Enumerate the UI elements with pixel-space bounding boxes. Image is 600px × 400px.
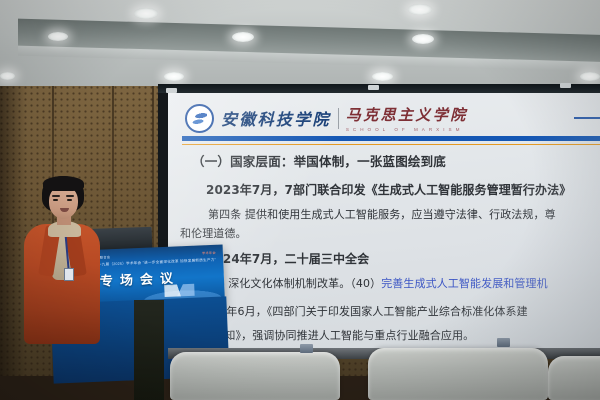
- speaker-hair-fringe: [43, 176, 84, 191]
- projected-slide: 安徽科技学院 马克思主义学院 SCHOOL OF MARXISM （一）国家层面…: [168, 93, 600, 351]
- school-name-en: SCHOOL OF MARXISM: [346, 127, 468, 132]
- downlight: [134, 8, 158, 19]
- downlight: [164, 72, 184, 81]
- audience-chair: [170, 352, 340, 400]
- downlight: [232, 32, 254, 42]
- slide-item3-a: 2024年6月，《四部门关于印发国家人工智能产业综合标准化体系建: [198, 303, 600, 319]
- slide-item2-line: 十、深化文化体制机制改革。（40）完善生成式人工智能发展和管理机: [206, 275, 600, 291]
- audience-chair: [548, 356, 600, 400]
- conference-room-photo: 安徽科技学院 马克思主义学院 SCHOOL OF MARXISM （一）国家层面…: [0, 0, 600, 400]
- projection-screen-top-rail: [158, 84, 600, 93]
- downlight: [372, 72, 393, 81]
- wall-shadow-left: [0, 86, 26, 376]
- header-accent-tick: [574, 117, 600, 119]
- speaker-brow-left: [52, 195, 60, 197]
- slide-body: （一）国家层面：举国体制，一张蓝图绘到底 2023年7月，7部门联合印发《生成式…: [168, 151, 600, 351]
- speaker-eye-right: [67, 199, 72, 201]
- school-name-block: 马克思主义学院 SCHOOL OF MARXISM: [346, 104, 468, 132]
- slide-item1-date: 2023年7月，7部门联合印发《生成式人工智能服务管理暂行办法》: [206, 181, 600, 198]
- speaker-eye-left: [53, 199, 58, 201]
- screen-mount-bracket: [368, 85, 379, 90]
- header-divider: [338, 108, 339, 129]
- slide-header: 安徽科技学院 马克思主义学院 SCHOOL OF MARXISM: [168, 101, 600, 135]
- downlight: [408, 4, 432, 15]
- chair-cover-clip: [497, 338, 510, 347]
- downlight: [0, 72, 15, 80]
- slide-item3-b: 版）的通知》，强调协同推进人工智能与重点行业融合应用。: [180, 327, 600, 343]
- slide-item2-prefix: 十、深化文化体制机制改革。（40）: [206, 277, 381, 290]
- slide-orange-rule: [182, 144, 600, 146]
- chair-cover-clip: [300, 344, 313, 353]
- emblem-swoosh-icon: [191, 110, 209, 125]
- ceiling: [0, 0, 600, 92]
- audience-chair: [368, 348, 548, 400]
- slide-item1-text-b: 和伦理道德。: [180, 225, 600, 241]
- downlight: [580, 72, 600, 81]
- university-name-cn: 安徽科技学院: [221, 106, 331, 130]
- university-emblem-icon: [185, 104, 214, 133]
- slide-heading: （一）国家层面：举国体制，一张蓝图绘到底: [192, 151, 600, 170]
- speaker-brow-right: [66, 195, 74, 197]
- banner-red-mark: 学术年会: [202, 250, 216, 256]
- downlight: [412, 34, 434, 44]
- speaker-mouth: [60, 208, 69, 212]
- school-name-cn: 马克思主义学院: [346, 104, 468, 125]
- dark-foreground-post: [134, 300, 164, 400]
- slide-item1-text-a: 第四条 提供和使用生成式人工智能服务，应当遵守法律、行政法规，尊: [208, 206, 600, 222]
- slide-item2-highlight: 完善生成式人工智能发展和管理机: [381, 277, 548, 290]
- slide-item2-date: 2024年7月，二十届三中全会: [206, 250, 600, 267]
- downlight: [48, 32, 68, 41]
- speaker-badge: [64, 268, 74, 281]
- slide-blue-rule: [182, 136, 600, 141]
- screen-mount-bracket: [560, 83, 571, 88]
